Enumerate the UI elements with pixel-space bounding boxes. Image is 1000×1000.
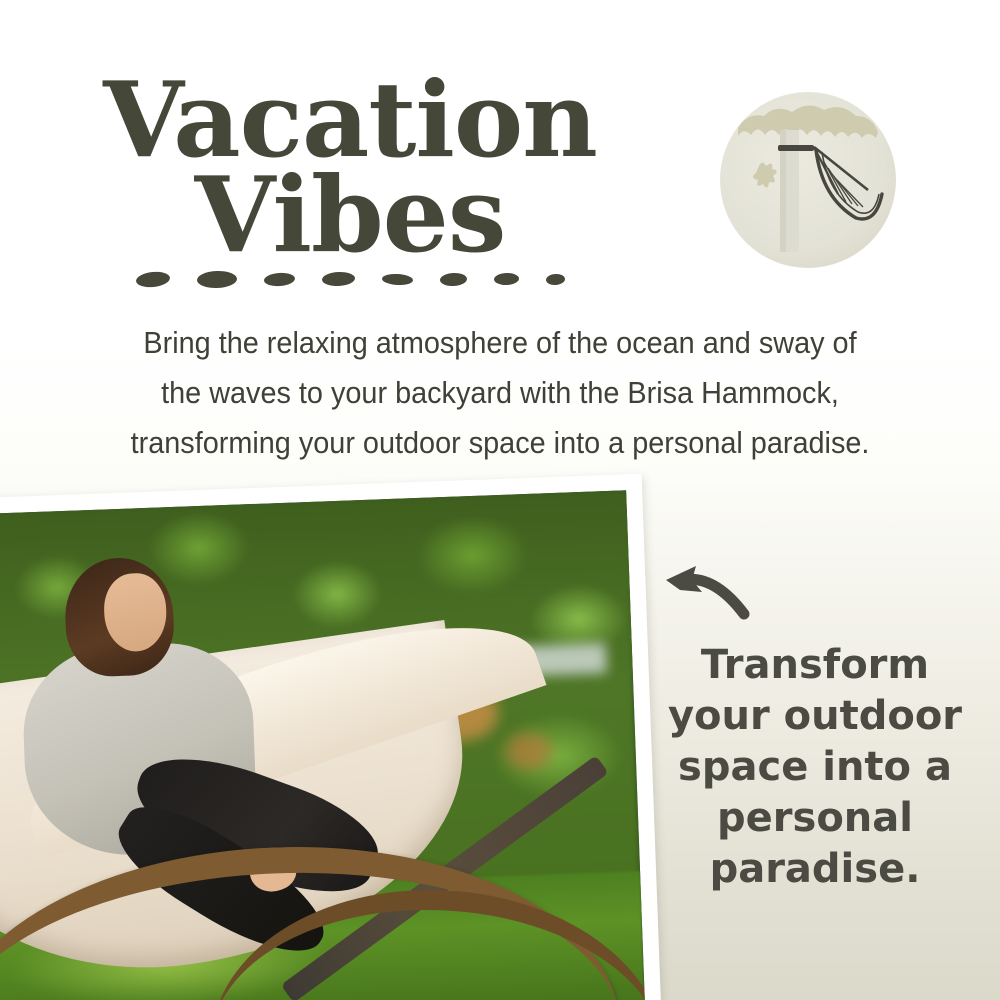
hammock-lifestyle-photo (0, 474, 662, 1000)
poster-header: Vacation Vibes (0, 0, 1000, 310)
intro-line: the waves to your backyard with the Bris… (82, 368, 919, 418)
callout-line: Transform (660, 640, 970, 691)
vacation-vibes-poster: Vacation Vibes (0, 0, 1000, 1000)
callout-line: your outdoor (660, 691, 970, 742)
divider-dash (493, 273, 518, 286)
page-title: Vacation Vibes (40, 72, 660, 263)
intro-paragraph: Bring the relaxing atmosphere of the oce… (82, 318, 919, 468)
divider-dash (196, 270, 237, 288)
divider-dash (263, 271, 295, 286)
curved-left-arrow-icon (652, 558, 762, 624)
divider-dash (321, 271, 355, 287)
dashed-divider (40, 262, 660, 296)
divider-dash (545, 273, 565, 285)
divider-dash (439, 272, 467, 286)
garden-scene (0, 490, 646, 1000)
intro-line: transforming your outdoor space into a p… (82, 418, 919, 468)
callout-line: space into a (660, 742, 970, 793)
callout-line: personal (660, 793, 970, 844)
divider-dash (135, 270, 170, 288)
divider-dash (381, 273, 413, 286)
intro-line: Bring the relaxing atmosphere of the oce… (82, 318, 919, 368)
hammock-tree-logo-icon (718, 90, 898, 270)
title-line-two: Vibes (40, 167, 660, 264)
photo-image (0, 490, 646, 1000)
callout-line: paradise. (660, 844, 970, 895)
handwritten-callout: Transform your outdoor space into a pers… (660, 640, 970, 895)
